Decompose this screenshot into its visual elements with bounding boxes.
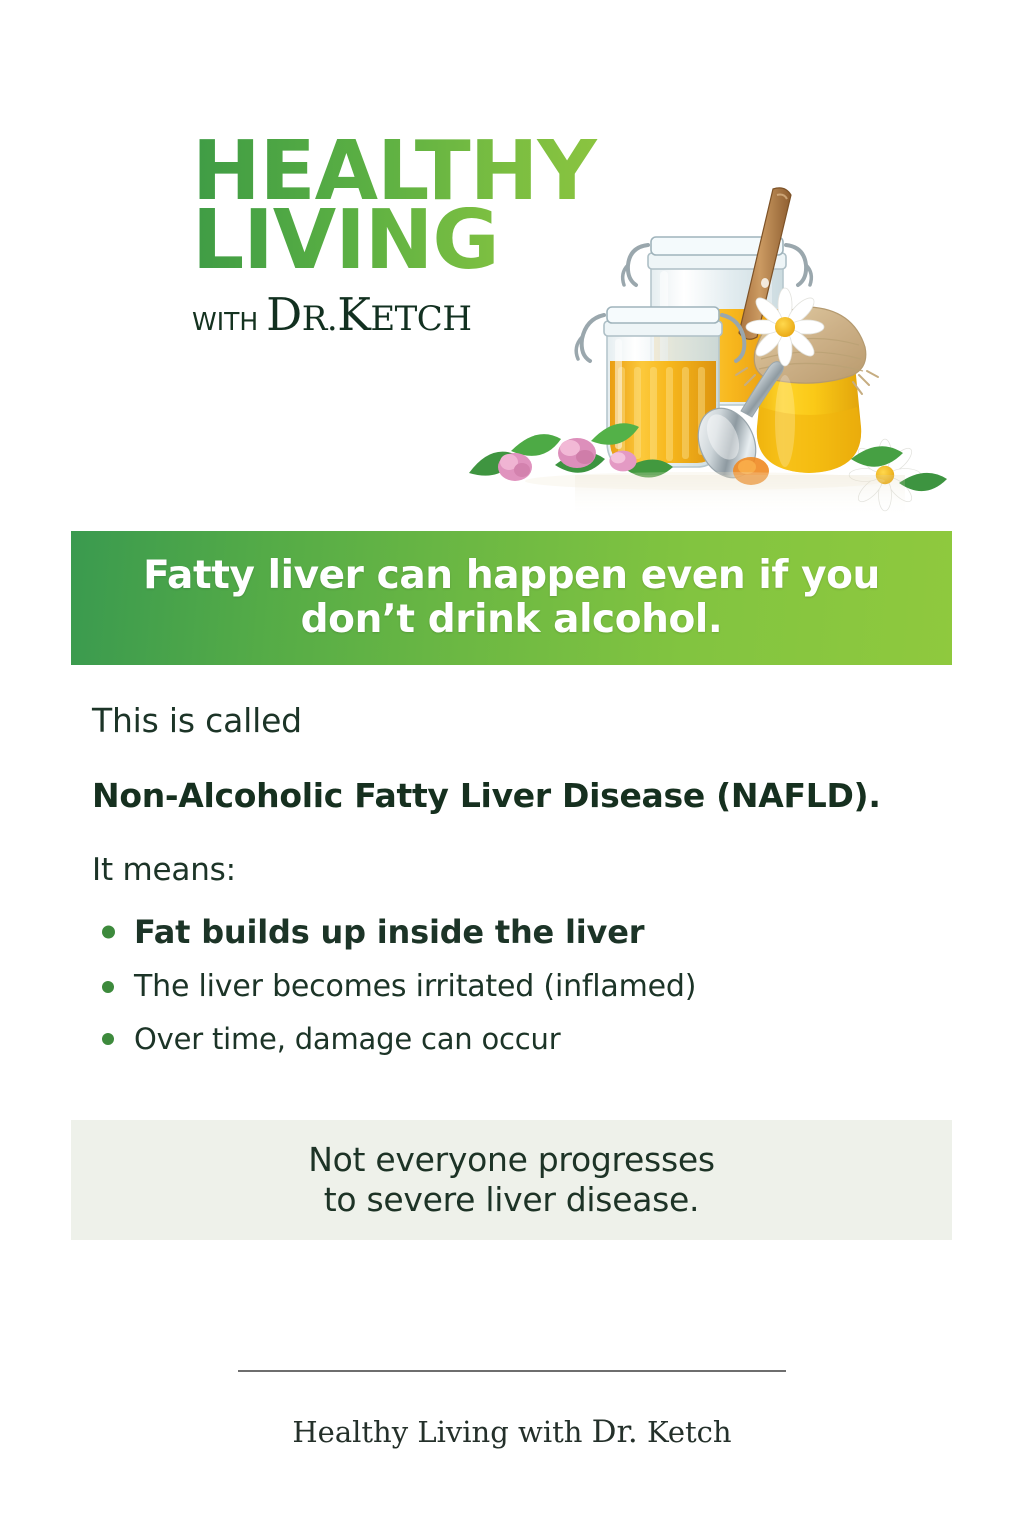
- footer-divider: [238, 1370, 786, 1372]
- header-section: HEALTHY LIVING WITH DR.KETCH: [0, 0, 1024, 530]
- bullet-dot-icon: [102, 981, 114, 993]
- symptom-list: Fat builds up inside the liver The liver…: [92, 913, 972, 1056]
- footer-brand: Healthy Living with Dr. Ketch: [0, 1414, 1024, 1450]
- footer-section: Healthy Living with Dr. Ketch: [0, 1370, 1024, 1450]
- footer-prefix: Healthy Living with: [292, 1415, 591, 1449]
- infographic-page: HEALTHY LIVING WITH DR.KETCH: [0, 0, 1024, 1536]
- bullet-dot-icon: [102, 926, 115, 939]
- body-content: This is called Non-Alcoholic Fatty Liver…: [92, 700, 972, 1074]
- banner-line-1: Fatty liver can happen even if you: [143, 553, 880, 598]
- banner-line-2: don’t drink alcohol.: [301, 597, 723, 642]
- banner-headline: Fatty liver can happen even if you don’t…: [143, 554, 880, 643]
- honey-jars-illustration: [455, 175, 965, 530]
- footer-dr: Dr.: [592, 1414, 638, 1450]
- list-item: Fat builds up inside the liver: [92, 913, 972, 951]
- list-item-label: Over time, damage can occur: [134, 1022, 560, 1056]
- headline-banner: Fatty liver can happen even if you don’t…: [71, 531, 952, 665]
- list-item-label: The liver becomes irritated (inflamed): [134, 969, 696, 1004]
- condition-name: Non-Alcoholic Fatty Liver Disease (NAFLD…: [92, 775, 972, 816]
- means-label: It means:: [92, 851, 972, 890]
- list-item-label: Fat builds up inside the liver: [134, 913, 644, 951]
- bullet-dot-icon: [102, 1033, 114, 1045]
- lead-text: This is called: [92, 700, 972, 741]
- logo-with-label: WITH: [192, 307, 258, 336]
- reassurance-callout: Not everyone progresses to severe liver …: [71, 1120, 952, 1240]
- list-item: The liver becomes irritated (inflamed): [92, 969, 972, 1004]
- logo-doctor-name: DR.KETCH: [266, 288, 471, 341]
- list-item: Over time, damage can occur: [92, 1022, 972, 1056]
- callout-text: Not everyone progresses to severe liver …: [308, 1140, 715, 1221]
- daisy-flower: [746, 288, 824, 366]
- callout-line-1: Not everyone progresses: [308, 1140, 715, 1179]
- callout-line-2: to severe liver disease.: [324, 1180, 699, 1219]
- footer-name: Ketch: [638, 1415, 732, 1449]
- surface-reflection: [525, 472, 905, 519]
